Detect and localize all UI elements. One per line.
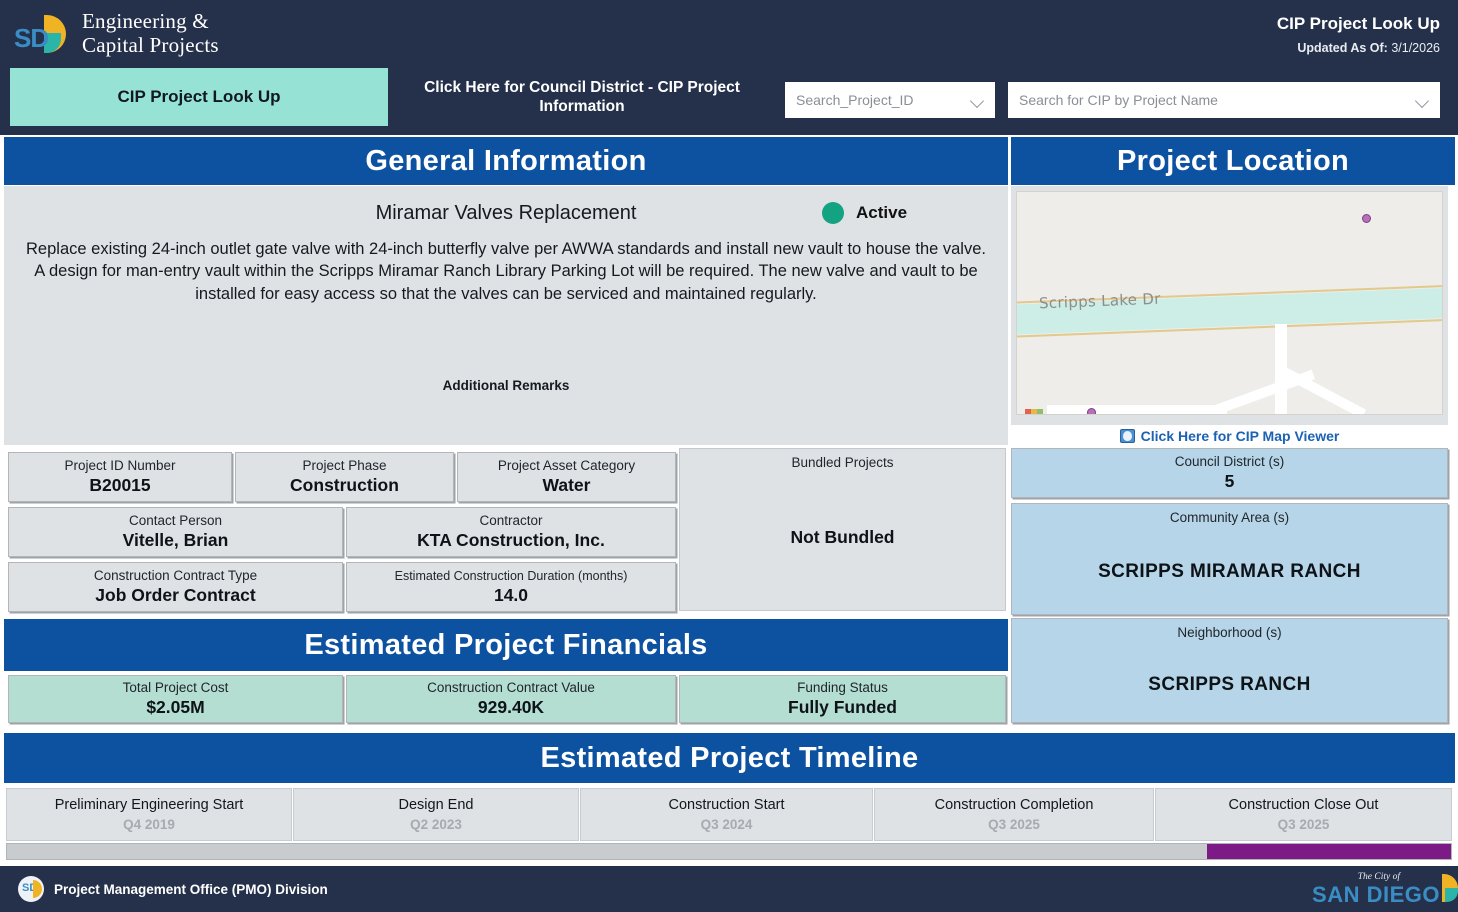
timeline-value: Q4 2019: [123, 817, 175, 832]
app-footer: SD Project Management Office (PMO) Divis…: [0, 866, 1458, 912]
card-value: SCRIPPS RANCH: [1148, 674, 1311, 696]
card-contractor: Contractor KTA Construction, Inc.: [346, 507, 676, 557]
chevron-down-icon[interactable]: [1416, 94, 1429, 107]
brand-line-2: Capital Projects: [82, 34, 219, 58]
footer-city-label: The City of: [1312, 872, 1400, 882]
timeline-label: Construction Start: [668, 797, 784, 813]
section-header-project-location: Project Location: [1011, 137, 1455, 185]
timeline-value: Q2 2023: [410, 817, 462, 832]
footer-logo-wave: [33, 880, 42, 898]
card-value: Construction: [290, 475, 399, 496]
card-label: Neighborhood (s): [1177, 625, 1281, 640]
card-value: B20015: [89, 475, 150, 496]
footer-city-name-wrap: SAN DIEGO: [1312, 882, 1440, 908]
page-title: CIP Project Look Up: [1277, 14, 1440, 34]
footer-division-label: Project Management Office (PMO) Division: [54, 882, 328, 897]
cip-dashboard: SD Engineering & Capital Projects CIP Pr…: [0, 0, 1458, 912]
card-council-district: Council District (s) 5: [1011, 448, 1448, 498]
map-legend-chip: [1025, 409, 1043, 415]
card-label: Construction Contract Value: [427, 680, 595, 695]
card-label: Council District (s): [1175, 454, 1285, 469]
footer-city-name: SAN DIEGO: [1312, 882, 1440, 907]
council-district-link[interactable]: Click Here for Council District - CIP Pr…: [392, 70, 772, 124]
footer-left: SD Project Management Office (PMO) Divis…: [18, 876, 328, 902]
card-label: Funding Status: [797, 680, 888, 695]
updated-value: 3/1/2026: [1391, 41, 1440, 55]
card-value: $2.05M: [146, 697, 204, 718]
section-header-general-information: General Information: [4, 137, 1008, 185]
card-value: Vitelle, Brian: [123, 530, 229, 551]
card-label: Project Phase: [302, 458, 386, 473]
card-value: SCRIPPS MIRAMAR RANCH: [1098, 561, 1361, 583]
project-map[interactable]: Scripps Lake Dr: [1016, 191, 1443, 415]
status-badge: Active: [822, 202, 907, 224]
card-asset-category: Project Asset Category Water: [457, 452, 676, 502]
map-pin-icon[interactable]: [1362, 214, 1371, 223]
search-project-id-input[interactable]: Search_Project_ID: [785, 82, 995, 118]
card-project-id: Project ID Number B20015: [8, 452, 232, 502]
chevron-down-icon[interactable]: [971, 94, 984, 107]
cip-map-viewer-link[interactable]: Click Here for CIP Map Viewer: [1011, 425, 1448, 447]
card-funding-status: Funding Status Fully Funded: [679, 675, 1006, 723]
timeline-label: Preliminary Engineering Start: [55, 797, 244, 813]
timeline-value: Q3 2025: [988, 817, 1040, 832]
card-value: Job Order Contract: [95, 585, 255, 606]
card-label: Contractor: [479, 513, 542, 528]
project-description: Replace existing 24-inch outlet gate val…: [26, 238, 986, 305]
brand: SD Engineering & Capital Projects: [14, 10, 219, 57]
updated-as-of: Updated As Of: 3/1/2026: [1297, 41, 1440, 55]
map-viewer-icon: [1120, 429, 1135, 443]
card-bundled-projects: Bundled Projects Not Bundled: [679, 448, 1006, 611]
timeline-milestone: Preliminary Engineering Start Q4 2019: [6, 788, 292, 841]
timeline-milestone: Construction Close Out Q3 2025: [1155, 788, 1452, 841]
card-construction-duration: Estimated Construction Duration (months)…: [346, 562, 676, 612]
card-label: Total Project Cost: [123, 680, 229, 695]
search-project-id-placeholder: Search_Project_ID: [796, 92, 971, 108]
scrollbar-thumb[interactable]: [1207, 844, 1451, 859]
card-label: Contact Person: [129, 513, 222, 528]
card-total-project-cost: Total Project Cost $2.05M: [8, 675, 343, 723]
timeline-value: Q3 2025: [1278, 817, 1330, 832]
sd-badge-icon: SD: [18, 876, 44, 902]
card-contact-person: Contact Person Vitelle, Brian: [8, 507, 343, 557]
map-road-lower: [1047, 405, 1227, 414]
section-header-financials: Estimated Project Financials: [4, 619, 1008, 671]
cip-map-viewer-link-label: Click Here for CIP Map Viewer: [1141, 428, 1340, 444]
footer-city-logo: The City of SAN DIEGO: [1312, 872, 1440, 908]
logo-text: SD: [14, 23, 48, 54]
timeline-label: Construction Completion: [935, 797, 1094, 813]
map-road-diagonal-right: [1282, 367, 1366, 415]
card-label: Project ID Number: [64, 458, 175, 473]
card-contract-type: Construction Contract Type Job Order Con…: [8, 562, 343, 612]
card-value: Fully Funded: [788, 697, 897, 718]
timeline-label: Construction Close Out: [1229, 797, 1379, 813]
card-value: 14.0: [494, 585, 528, 606]
card-value: Not Bundled: [790, 527, 894, 548]
card-value: 5: [1225, 471, 1235, 492]
card-label: Construction Contract Type: [94, 568, 257, 583]
card-value: 929.40K: [478, 697, 544, 718]
timeline-value: Q3 2024: [701, 817, 753, 832]
timeline-label: Design End: [399, 797, 474, 813]
card-neighborhood: Neighborhood (s) SCRIPPS RANCH: [1011, 618, 1448, 723]
card-value: KTA Construction, Inc.: [417, 530, 605, 551]
brand-name: Engineering & Capital Projects: [82, 10, 219, 57]
card-construction-contract-value: Construction Contract Value 929.40K: [346, 675, 676, 723]
card-value: Water: [543, 475, 591, 496]
card-community-area: Community Area (s) SCRIPPS MIRAMAR RANCH: [1011, 503, 1448, 615]
app-header: SD Engineering & Capital Projects CIP Pr…: [0, 0, 1458, 135]
sd-logo-icon: SD: [14, 11, 72, 57]
additional-remarks-label: Additional Remarks: [4, 378, 1008, 393]
card-label: Project Asset Category: [498, 458, 635, 473]
timeline-milestone: Design End Q2 2023: [293, 788, 579, 841]
project-location-map-panel: Scripps Lake Dr: [1011, 186, 1448, 445]
status-dot-icon: [822, 202, 844, 224]
card-label: Estimated Construction Duration (months): [395, 569, 628, 583]
timeline-milestone: Construction Start Q3 2024: [580, 788, 873, 841]
status-label: Active: [856, 203, 907, 223]
footer-swoosh-teal-icon: [1445, 888, 1458, 902]
cip-project-lookup-button[interactable]: CIP Project Look Up: [10, 68, 388, 126]
search-project-name-placeholder: Search for CIP by Project Name: [1019, 92, 1416, 108]
search-project-name-input[interactable]: Search for CIP by Project Name: [1008, 82, 1440, 118]
timeline-milestone: Construction Completion Q3 2025: [874, 788, 1154, 841]
brand-line-1: Engineering &: [82, 10, 219, 34]
horizontal-scrollbar[interactable]: [6, 843, 1452, 860]
updated-label: Updated As Of:: [1297, 41, 1388, 55]
card-label: Community Area (s): [1170, 510, 1289, 525]
section-header-timeline: Estimated Project Timeline: [4, 733, 1455, 783]
map-pin-icon[interactable]: [1087, 408, 1096, 415]
card-project-phase: Project Phase Construction: [235, 452, 454, 502]
general-information-panel: Miramar Valves Replacement Active Replac…: [4, 186, 1008, 445]
card-label: Bundled Projects: [791, 455, 893, 470]
